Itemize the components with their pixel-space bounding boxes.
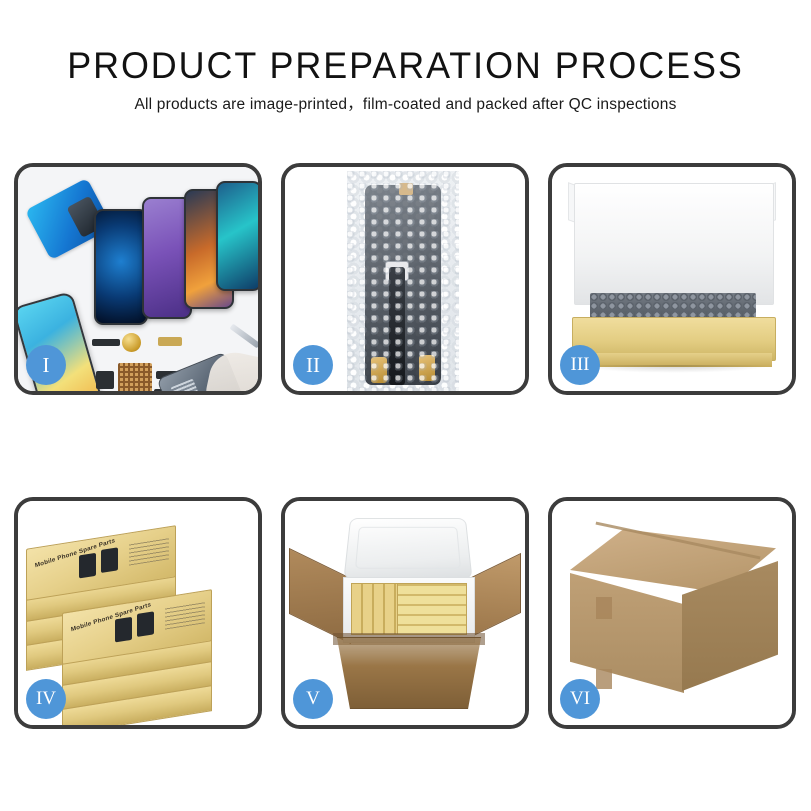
step-badge-6: VI [560, 679, 600, 719]
carton-body-icon [327, 637, 491, 709]
foam-lid-icon [343, 518, 472, 579]
process-step-1: I [14, 163, 262, 395]
phone-display-icon [216, 181, 258, 291]
page-subtitle: All products are image-printed，film-coat… [0, 95, 811, 115]
phone-display-icon [94, 209, 148, 325]
product-image-icon [137, 611, 154, 637]
step-badge-4: IV [26, 679, 66, 719]
flex-cable-icon [389, 267, 405, 385]
step-badge-1: I [26, 345, 66, 385]
speaker-part-icon [122, 333, 141, 352]
process-step-2: II [281, 163, 529, 395]
tape-icon [399, 183, 413, 195]
product-image-icon [115, 617, 132, 643]
carton-tape-icon [596, 669, 612, 689]
carton-tape-icon [596, 597, 612, 619]
flex-cable-icon [158, 337, 182, 346]
process-step-3: III [548, 163, 796, 395]
small-part-icon [92, 339, 120, 346]
white-box-lid-icon [574, 183, 774, 305]
product-image-icon [79, 553, 96, 579]
process-step-6: VI [548, 497, 796, 729]
process-step-4: Mobile Phone Spare Parts Mobile Phone Sp… [14, 497, 262, 729]
box-spec-lines [165, 601, 205, 629]
page-title: PRODUCT PREPARATION PROCESS [12, 44, 799, 88]
process-step-grid: I II [14, 163, 797, 729]
box-shadow [576, 365, 772, 373]
bubble-wrap-sleeve [347, 171, 459, 391]
process-step-5: V [281, 497, 529, 729]
header: PRODUCT PREPARATION PROCESS All products… [0, 44, 811, 115]
box-spec-lines [129, 537, 169, 565]
gold-contact-icon [371, 357, 387, 383]
step-badge-3: III [560, 345, 600, 385]
step-badge-2: II [293, 345, 333, 385]
gold-contact-icon [419, 355, 435, 381]
product-preparation-infographic: PRODUCT PREPARATION PROCESS All products… [0, 0, 811, 811]
gold-boxes-row-icon [397, 583, 467, 635]
product-image-icon [101, 547, 118, 573]
small-part-icon [96, 371, 114, 389]
step-badge-5: V [293, 679, 333, 719]
mesh-part-icon [118, 363, 152, 391]
